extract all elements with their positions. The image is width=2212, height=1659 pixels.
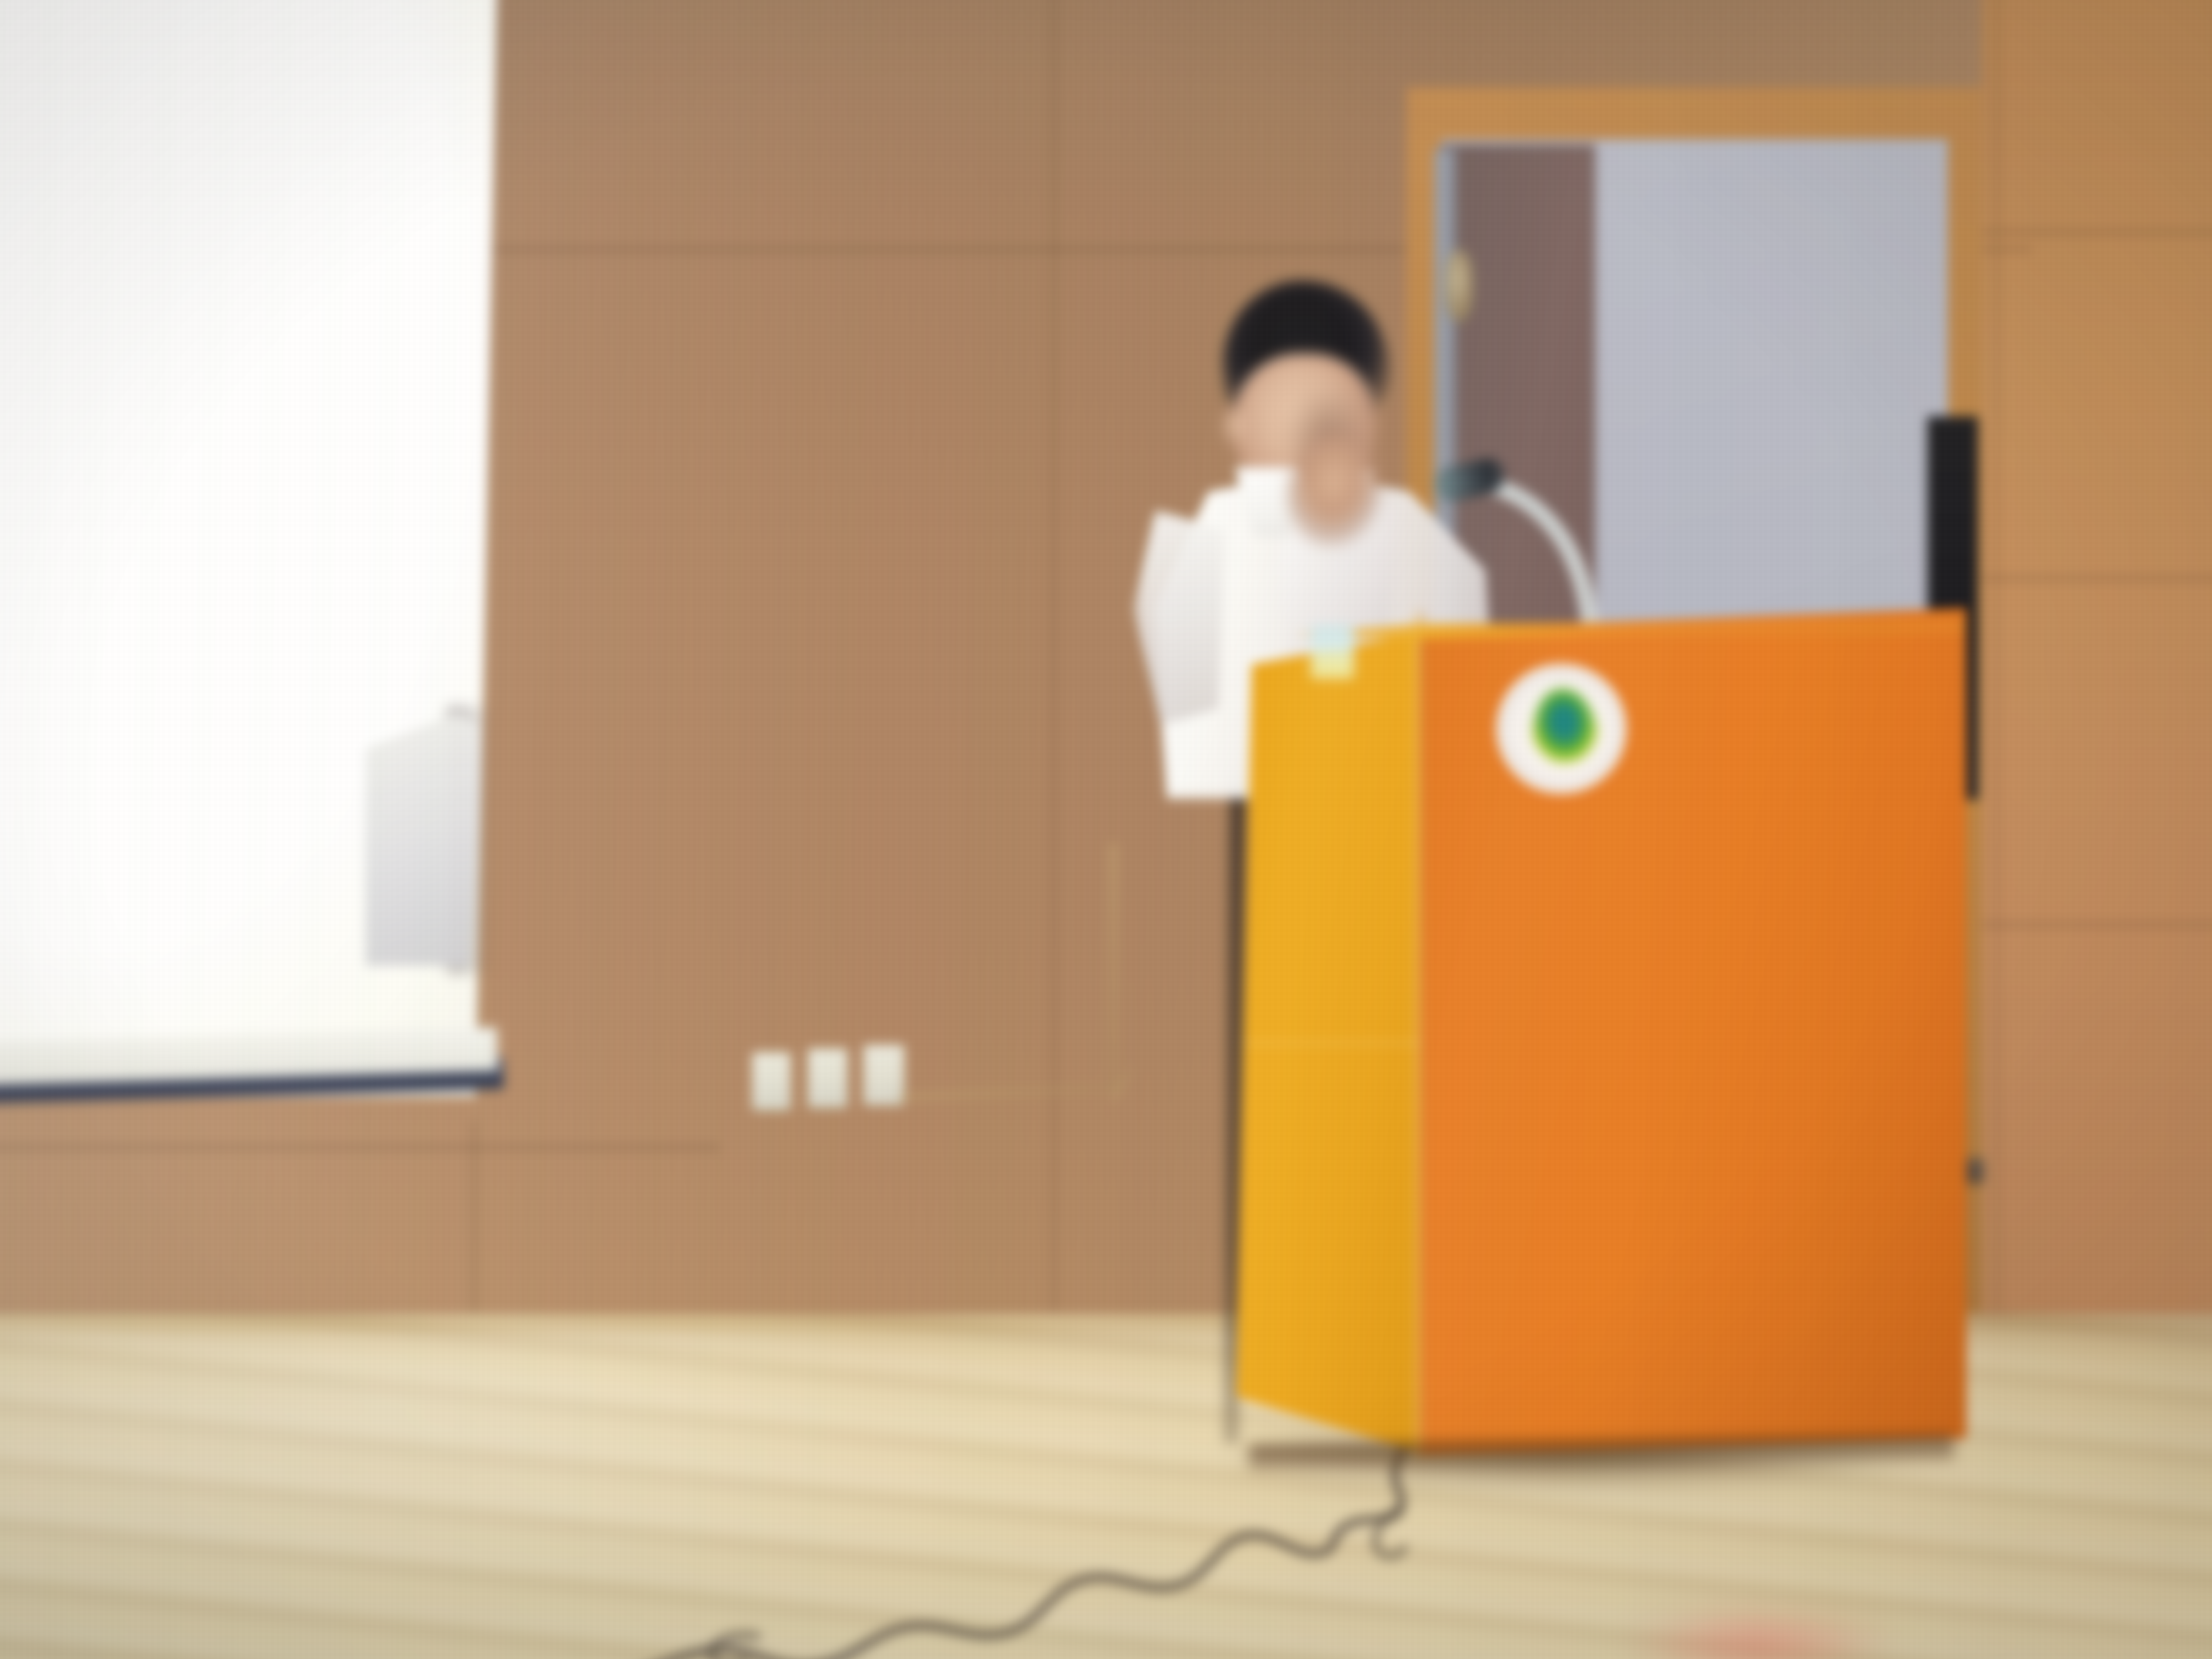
wall-seam-horizontal-4 (1982, 923, 2212, 926)
presenter-left-arm (1133, 509, 1226, 726)
paper-sheet (364, 713, 482, 967)
wall-seam-horizontal-5 (0, 1146, 720, 1148)
floor-color-reflection (1598, 1604, 1920, 1659)
lectern-side-seam (1242, 1041, 1421, 1045)
wall-seam-horizontal-3 (1982, 577, 2212, 580)
wall-seam-horizontal-2 (1982, 231, 2212, 233)
wall-trim-line-3 (1110, 843, 1117, 1090)
presenter-ear (1220, 404, 1256, 451)
lectern-sticker (1311, 625, 1354, 679)
wall-right-panel (1982, 0, 2212, 1362)
institutional-seal-icon (1496, 664, 1626, 794)
photograph (0, 0, 2212, 1659)
wall-seam-vertical-1 (1053, 0, 1055, 1319)
wall-seam-vertical-3 (1996, 0, 1998, 1313)
lectern-corner-edge (1415, 612, 1424, 1458)
wall-outlet-1[interactable] (752, 1052, 791, 1110)
wall-seam-vertical-2 (473, 1121, 475, 1319)
photo-scene: Speaker at a podium in a wood-panelled a… (0, 0, 2212, 1659)
wall-outlet-3[interactable] (863, 1045, 904, 1105)
wall-outlet-2[interactable] (808, 1048, 847, 1108)
